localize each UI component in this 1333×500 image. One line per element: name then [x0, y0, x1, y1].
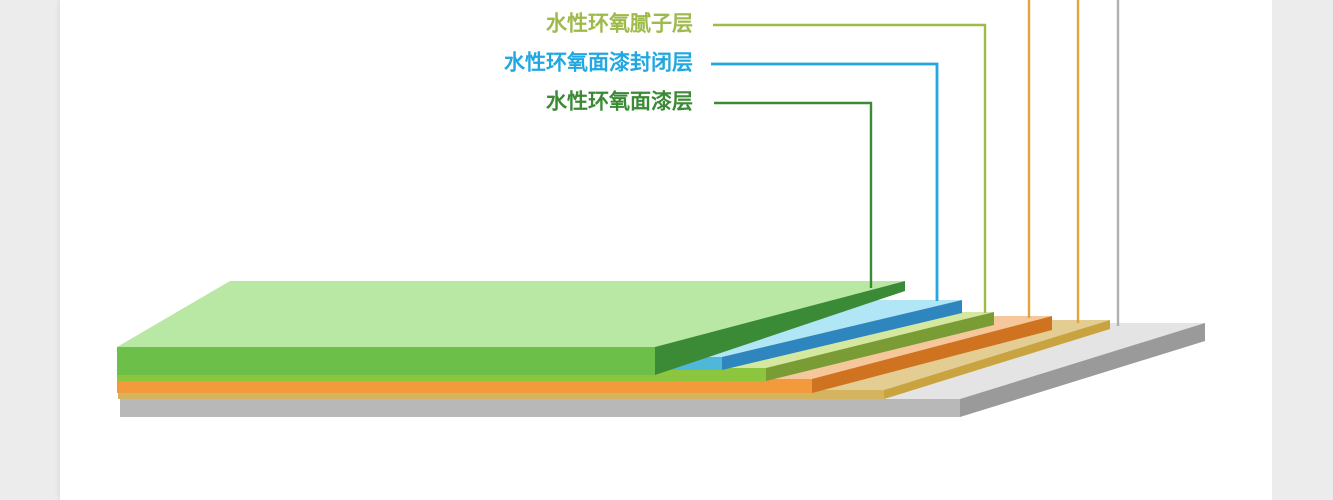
diagram-stage: 水性环氧腻子层 水性环氧面漆封闭层 水性环氧面漆层	[0, 0, 1333, 500]
topcoat-leader-line	[714, 103, 871, 288]
layer-stack-diagram: 水性环氧腻子层 水性环氧面漆封闭层 水性环氧面漆层	[0, 0, 1333, 500]
putty-leader-line	[713, 25, 985, 313]
labeled-leader-lines	[711, 25, 985, 313]
label-topcoat[interactable]: 水性环氧面漆层	[546, 90, 693, 114]
primer-front-face	[117, 379, 812, 393]
concrete-front-face	[120, 399, 960, 417]
label-topcoat-seal[interactable]: 水性环氧面漆封闭层	[504, 51, 693, 75]
topcoat-front-face	[117, 347, 655, 375]
layer-labels: 水性环氧腻子层 水性环氧面漆封闭层 水性环氧面漆层	[504, 12, 693, 114]
label-putty[interactable]: 水性环氧腻子层	[546, 12, 693, 36]
topcoat-seal-leader-line	[711, 64, 937, 301]
unlabeled-leader-lines	[1029, 0, 1118, 326]
